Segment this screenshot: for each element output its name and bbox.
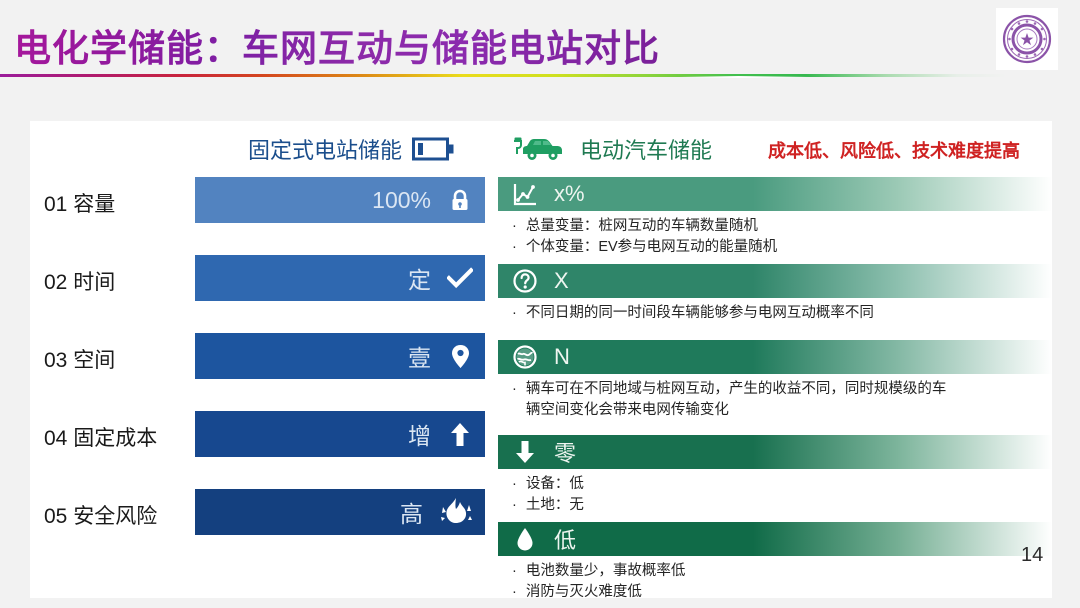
- location-pin-icon: [447, 343, 473, 369]
- row-label: 05 安全风险: [44, 500, 157, 530]
- metric-bar: 增: [195, 411, 485, 457]
- row-name: 时间: [73, 271, 115, 294]
- row-label: 04 固定成本: [44, 422, 157, 452]
- metric-bar: 100%: [195, 177, 485, 223]
- bullet-text: 设备：低: [526, 474, 584, 495]
- metric-bar: 高: [195, 489, 485, 535]
- metric-bar: X: [498, 264, 1052, 298]
- title-gradient-rule: [0, 74, 1007, 77]
- bullet-dot: ·: [512, 237, 517, 258]
- row-label: 03 空间: [44, 344, 115, 374]
- list-item: · 设备：低: [512, 474, 1052, 495]
- bullet-dot: ·: [512, 216, 517, 237]
- metric-bar: 壹: [195, 333, 485, 379]
- comparison-header: 固定式电站储能 电: [30, 121, 1052, 177]
- bullet-list: · 总量变量：桩网互动的车辆数量随机 · 个体变量：EV参与电网互动的能量随机: [498, 211, 1052, 258]
- list-item: · 电池数量少，事故概率低: [512, 561, 1052, 582]
- bullet-dot: ·: [512, 495, 517, 516]
- metric-bar: x%: [498, 177, 1052, 211]
- bullet-dot: ·: [512, 582, 517, 603]
- row-index: 04: [44, 427, 67, 450]
- stationary-storage-header: 固定式电站储能: [248, 133, 456, 165]
- lock-icon: [447, 187, 473, 213]
- bullet-text: 个体变量：EV参与电网互动的能量随机: [526, 237, 777, 258]
- ev-storage-label: 电动汽车储能: [580, 133, 712, 165]
- stationary-storage-column: 01 容量 100%: [30, 177, 498, 598]
- list-item: · 辆车可在不同地域与桩网互动，产生的收益不同，同时规模级的车辆空间变化会带来电…: [512, 379, 952, 421]
- bullet-dot: ·: [512, 303, 517, 324]
- row-label: 01 容量: [44, 188, 115, 218]
- slide-root: 电化学储能：车网互动与储能电站对比 固定式电站储能: [0, 0, 1080, 608]
- bullet-dot: ·: [512, 561, 517, 582]
- row-name: 安全风险: [73, 505, 157, 528]
- metric-value: N: [554, 344, 570, 370]
- line-chart-icon: [512, 181, 538, 207]
- bullet-dot: ·: [512, 379, 517, 421]
- bullet-list: · 辆车可在不同地域与桩网互动，产生的收益不同，同时规模级的车辆空间变化会带来电…: [498, 374, 1052, 421]
- row-name: 固定成本: [73, 427, 157, 450]
- bullet-list: · 不同日期的同一时间段车辆能够参与电网互动概率不同: [498, 298, 1052, 324]
- ev-storage-header: 电动汽车储能: [510, 133, 712, 165]
- bullet-dot: ·: [512, 474, 517, 495]
- row-name: 容量: [73, 193, 115, 216]
- title-rule-highlight: [680, 76, 810, 78]
- bullet-list: · 电池数量少，事故概率低 · 消防与灭火难度低: [498, 556, 1052, 603]
- list-item: · 消防与灭火难度低: [512, 582, 1052, 603]
- water-drop-icon: [512, 526, 538, 552]
- metric-value: 增: [408, 417, 431, 451]
- row-index: 05: [44, 505, 67, 528]
- table-row: 04 固定成本 增: [30, 411, 498, 463]
- university-seal-logo: [1001, 13, 1053, 65]
- metric-bar: N: [498, 340, 1052, 374]
- page-number: 14: [1021, 544, 1043, 567]
- electric-car-icon: [510, 134, 570, 164]
- table-row: 01 容量 100%: [30, 177, 498, 229]
- globe-icon: [512, 344, 538, 370]
- metric-value: 100%: [372, 187, 431, 214]
- table-row: 03 空间 壹: [30, 333, 498, 385]
- metric-bar: 低: [498, 522, 1052, 556]
- metric-value: 低: [554, 523, 576, 555]
- metric-value: 壹: [408, 339, 431, 373]
- metric-bar: 定: [195, 255, 485, 301]
- table-row: 02 时间 定: [30, 255, 498, 307]
- bullet-text: 电池数量少，事故概率低: [526, 561, 686, 582]
- logo-container: [996, 8, 1058, 70]
- row-name: 空间: [73, 349, 115, 372]
- row-index: 03: [44, 349, 67, 372]
- metric-value: X: [554, 268, 569, 294]
- list-item: 零 · 设备：低 · 土地：无: [498, 435, 1052, 516]
- arrow-down-icon: [512, 439, 538, 465]
- row-label: 02 时间: [44, 266, 115, 296]
- bullet-text: 总量变量：桩网互动的车辆数量随机: [526, 216, 758, 237]
- bullet-text: 消防与灭火难度低: [526, 582, 642, 603]
- stationary-storage-label: 固定式电站储能: [248, 133, 402, 165]
- bullet-text: 土地：无: [526, 495, 584, 516]
- ev-storage-column: x% · 总量变量：桩网互动的车辆数量随机 · 个体变量：EV参与电网互动的能量…: [498, 177, 1052, 598]
- battery-icon: [412, 136, 456, 162]
- metric-value: 定: [408, 261, 431, 295]
- row-index: 02: [44, 271, 67, 294]
- list-item: · 总量变量：桩网互动的车辆数量随机: [512, 216, 1052, 237]
- metric-value: x%: [554, 181, 585, 207]
- list-item: · 个体变量：EV参与电网互动的能量随机: [512, 237, 1052, 258]
- table-row: 05 安全风险 高: [30, 489, 498, 541]
- arrow-up-icon: [447, 421, 473, 447]
- list-item: x% · 总量变量：桩网互动的车辆数量随机 · 个体变量：EV参与电网互动的能量…: [498, 177, 1052, 258]
- metric-value: 高: [400, 495, 423, 529]
- bullet-text: 辆车可在不同地域与桩网互动，产生的收益不同，同时规模级的车辆空间变化会带来电网传…: [526, 379, 952, 421]
- advantage-note: 成本低、风险低、技术难度提高: [768, 137, 1020, 163]
- check-icon: [447, 265, 473, 291]
- metric-value: 零: [554, 436, 576, 468]
- bullet-list: · 设备：低 · 土地：无: [498, 469, 1052, 516]
- row-index: 01: [44, 193, 67, 216]
- comparison-card: 固定式电站储能 电: [30, 121, 1052, 598]
- bullet-text: 不同日期的同一时间段车辆能够参与电网互动概率不同: [526, 303, 874, 324]
- question-circle-icon: [512, 268, 538, 294]
- page-title: 电化学储能：车网互动与储能电站对比: [14, 18, 660, 72]
- list-item: · 土地：无: [512, 495, 1052, 516]
- list-item: X · 不同日期的同一时间段车辆能够参与电网互动概率不同: [498, 264, 1052, 324]
- metric-bar: 零: [498, 435, 1052, 469]
- fire-icon: [439, 499, 473, 525]
- list-item: 低 · 电池数量少，事故概率低 · 消防与灭火难度低: [498, 522, 1052, 603]
- list-item: N · 辆车可在不同地域与桩网互动，产生的收益不同，同时规模级的车辆空间变化会带…: [498, 340, 1052, 421]
- list-item: · 不同日期的同一时间段车辆能够参与电网互动概率不同: [512, 303, 1052, 324]
